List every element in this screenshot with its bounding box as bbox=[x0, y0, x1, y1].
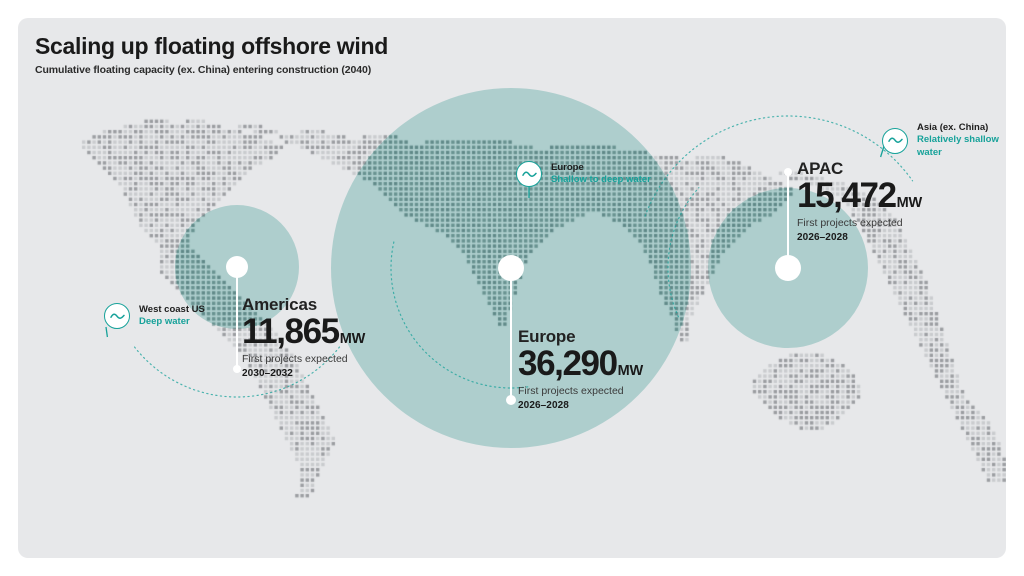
region-unit-europe: MW bbox=[618, 363, 643, 379]
wave-icon bbox=[104, 303, 130, 329]
region-unit-apac: MW bbox=[897, 195, 922, 211]
region-years-europe: 2026–2028 bbox=[518, 400, 643, 411]
region-years-apac: 2026–2028 bbox=[797, 232, 922, 243]
region-value-row-americas: 11,865MW bbox=[242, 314, 365, 351]
marker-endpoint-europe bbox=[506, 395, 516, 405]
region-value-row-europe: 36,290MW bbox=[518, 346, 643, 383]
region-value-row-apac: 15,472MW bbox=[797, 178, 922, 215]
callout-europe-depth[interactable]: EuropeShallow to deep water bbox=[516, 161, 651, 187]
callout-text-west-coast-us: West coast USDeep water bbox=[139, 304, 205, 329]
world-map bbox=[18, 18, 1006, 558]
callout-title-europe-depth: Europe bbox=[551, 162, 651, 174]
region-markers bbox=[18, 18, 1006, 558]
callout-asia-ex-china[interactable]: Asia (ex. China)Relatively shallow water bbox=[882, 122, 1006, 159]
marker-endpoint-americas bbox=[233, 365, 241, 373]
wave-icon bbox=[516, 161, 542, 187]
callout-subtitle-west-coast-us: Deep water bbox=[139, 316, 205, 328]
callout-subtitle-europe-depth: Shallow to deep water bbox=[551, 174, 651, 186]
region-years-americas: 2030–2032 bbox=[242, 368, 365, 379]
infographic-stage: Scaling up floating offshore wind Cumula… bbox=[0, 0, 1024, 576]
region-value-europe: 36,290 bbox=[518, 346, 617, 383]
region-stat-apac: APAC15,472MWFirst projects expected2026–… bbox=[797, 160, 922, 243]
region-note-americas: First projects expected bbox=[242, 353, 365, 366]
page-title-block: Scaling up floating offshore wind Cumula… bbox=[35, 33, 388, 76]
callout-text-asia-ex-china: Asia (ex. China)Relatively shallow water bbox=[917, 122, 1006, 159]
page-title: Scaling up floating offshore wind bbox=[35, 33, 388, 59]
marker-dot-europe[interactable] bbox=[498, 255, 524, 281]
marker-endpoint-apac bbox=[784, 168, 792, 176]
region-stat-americas: Americas11,865MWFirst projects expected2… bbox=[242, 296, 365, 379]
region-note-europe: First projects expected bbox=[518, 385, 643, 398]
region-value-americas: 11,865 bbox=[242, 314, 339, 351]
callout-west-coast-us[interactable]: West coast USDeep water bbox=[104, 303, 205, 329]
marker-dot-apac[interactable] bbox=[775, 255, 801, 281]
region-unit-americas: MW bbox=[340, 331, 365, 347]
page-subtitle: Cumulative floating capacity (ex. China)… bbox=[35, 64, 388, 76]
callout-title-asia-ex-china: Asia (ex. China) bbox=[917, 122, 1006, 134]
wave-icon bbox=[882, 128, 908, 154]
region-value-apac: 15,472 bbox=[797, 178, 896, 215]
callout-text-europe-depth: EuropeShallow to deep water bbox=[551, 162, 651, 187]
region-stat-europe: Europe36,290MWFirst projects expected202… bbox=[518, 328, 643, 411]
infographic-card: Scaling up floating offshore wind Cumula… bbox=[18, 18, 1006, 558]
region-note-apac: First projects expected bbox=[797, 217, 922, 230]
callout-title-west-coast-us: West coast US bbox=[139, 304, 205, 316]
marker-dot-americas[interactable] bbox=[226, 256, 248, 278]
callout-subtitle-asia-ex-china: Relatively shallow water bbox=[917, 134, 1006, 159]
